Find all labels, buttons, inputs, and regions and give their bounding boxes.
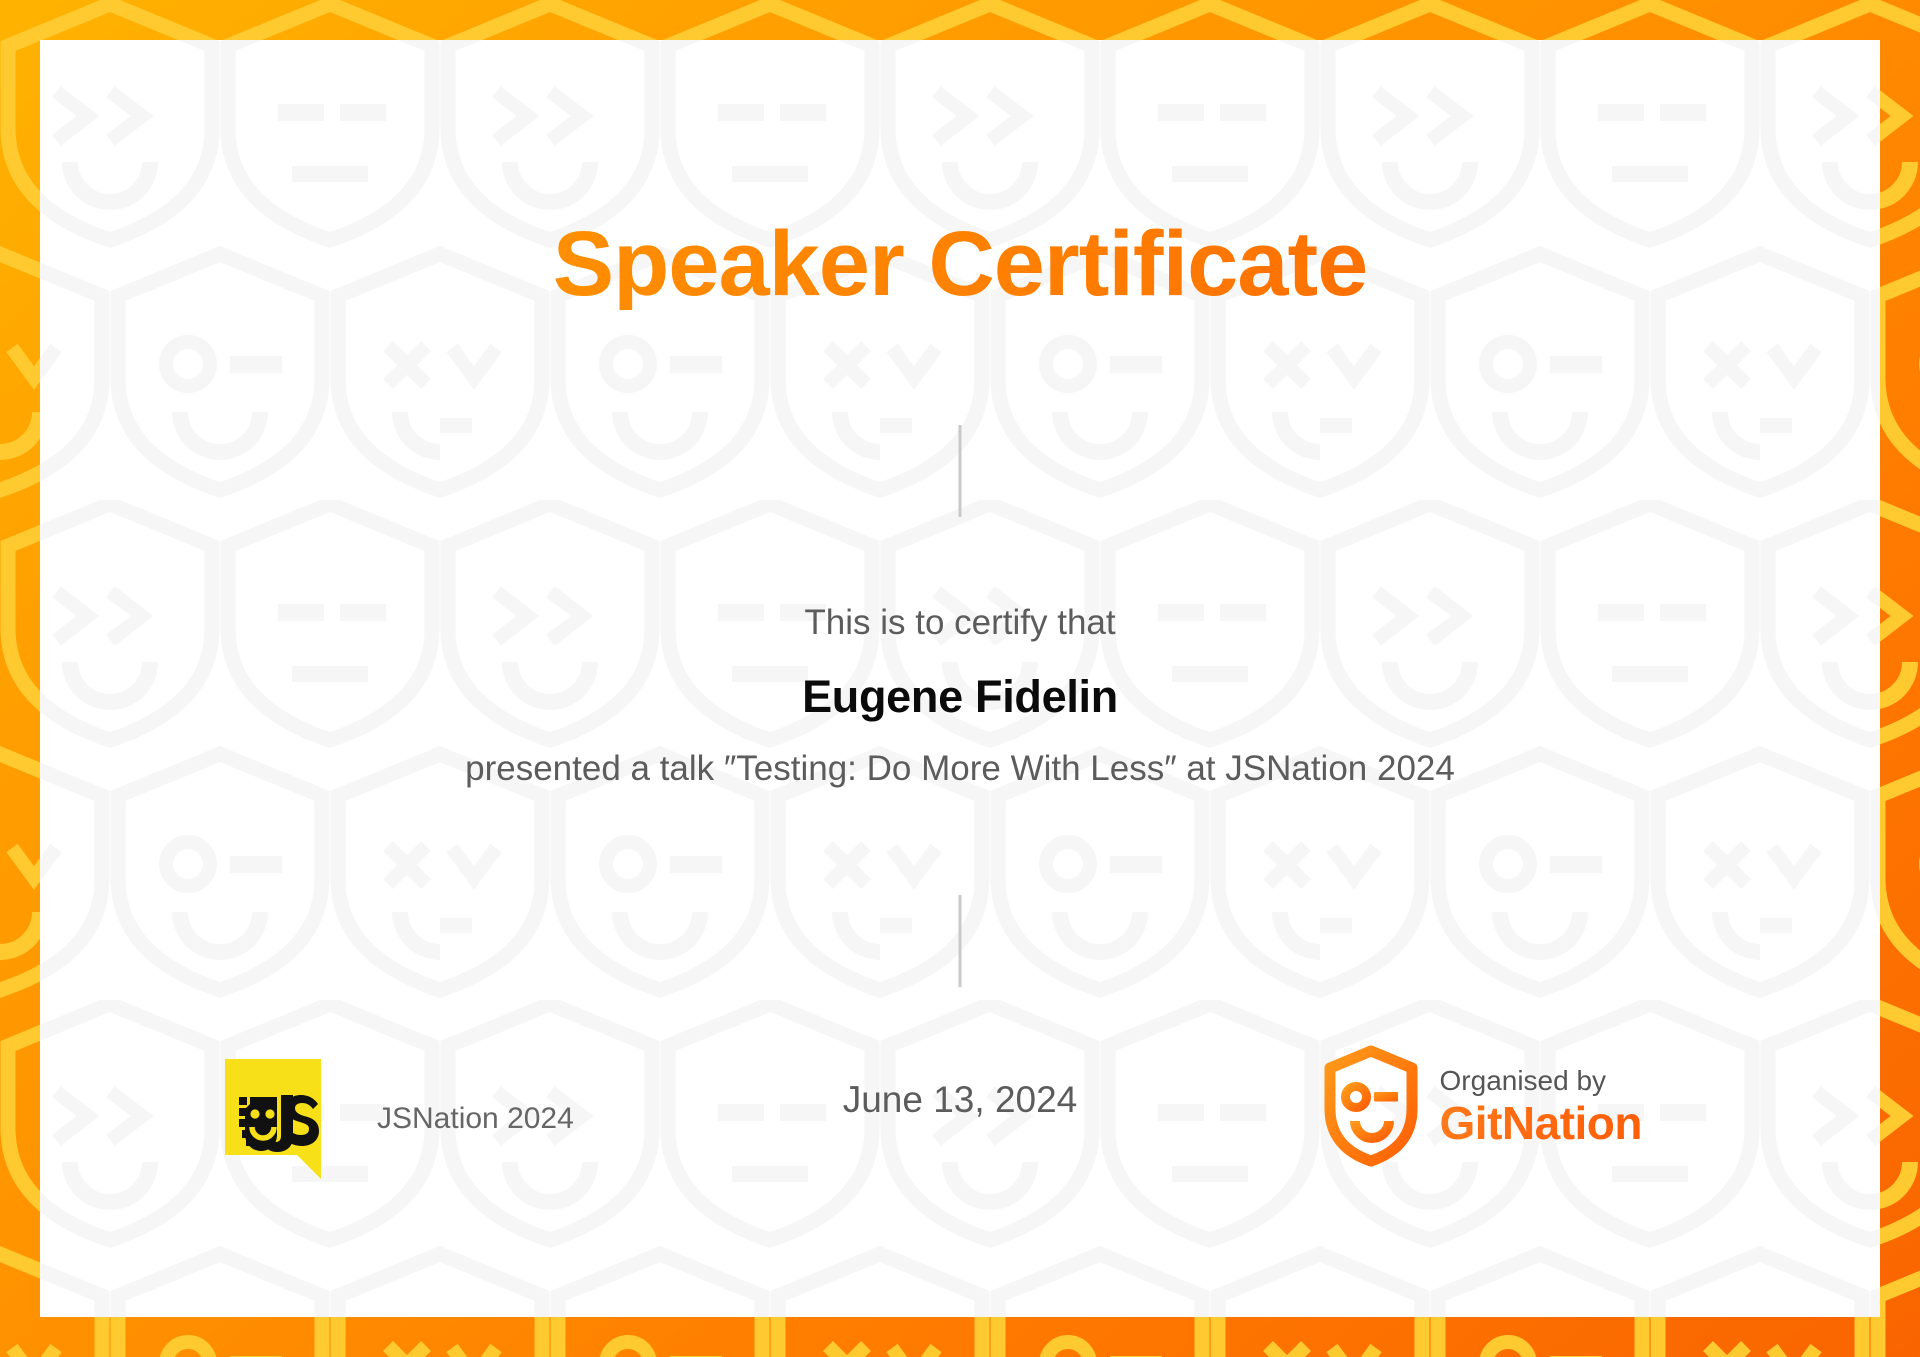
organised-by-label: Organised by bbox=[1440, 1063, 1642, 1098]
certificate-footer: JSNation 2024 June 13, 2024 bbox=[40, 1027, 1880, 1317]
organiser-block: Organised by GitNation bbox=[1322, 1045, 1642, 1167]
certificate-frame: Speaker Certificate This is to certify t… bbox=[0, 0, 1920, 1357]
certificate-content: Speaker Certificate This is to certify t… bbox=[40, 40, 1880, 1317]
vertical-divider-top bbox=[959, 425, 962, 517]
recipient-name: Eugene Fidelin bbox=[40, 671, 1880, 723]
vertical-divider-bottom bbox=[959, 895, 962, 987]
organiser-text: Organised by GitNation bbox=[1440, 1063, 1642, 1149]
organiser-name: GitNation bbox=[1440, 1098, 1642, 1149]
page-title: Speaker Certificate bbox=[40, 218, 1880, 310]
certificate-card: Speaker Certificate This is to certify t… bbox=[40, 40, 1880, 1317]
certify-statement: This is to certify that bbox=[40, 603, 1880, 643]
talk-statement: presented a talk ″Testing: Do More With … bbox=[40, 749, 1880, 789]
gitnation-shield-face-logo bbox=[1322, 1045, 1420, 1167]
